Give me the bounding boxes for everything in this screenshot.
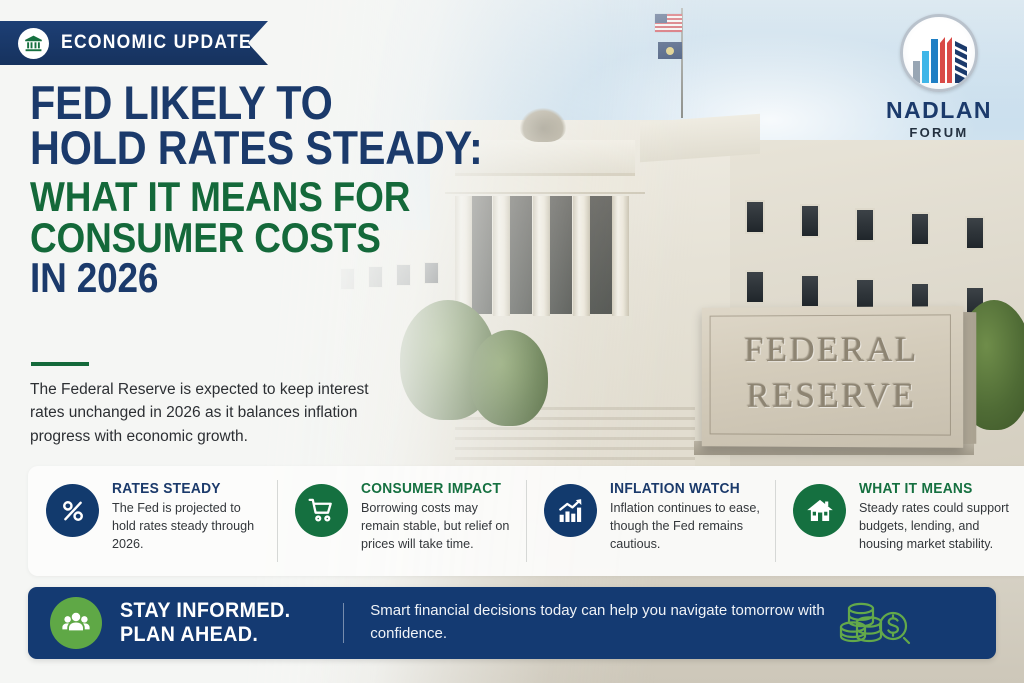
card-what-it-means: WHAT IT MEANS Steady rates could support… bbox=[775, 466, 1024, 576]
banner-headline: STAY INFORMED. PLAN AHEAD. bbox=[120, 599, 291, 646]
card-text: Borrowing costs may remain stable, but r… bbox=[361, 500, 512, 554]
headline-line-1: FED LIKELY TO bbox=[30, 80, 444, 125]
economic-update-ribbon: ECONOMIC UPDATE bbox=[0, 21, 268, 65]
call-to-action-banner: STAY INFORMED. PLAN AHEAD. Smart financi… bbox=[28, 587, 996, 659]
house-icon bbox=[793, 484, 846, 537]
banner-headline-line-1: STAY INFORMED. bbox=[120, 599, 291, 623]
headline-line-3: WHAT IT MEANS FOR bbox=[30, 177, 444, 217]
money-coins-icon bbox=[838, 598, 912, 648]
ribbon-label: ECONOMIC UPDATE bbox=[61, 32, 252, 54]
infographic-poster: FEDERAL RESERVE ECONOMIC UPDATE bbox=[0, 0, 1024, 683]
card-rates-steady: RATES STEADY The Fed is projected to hol… bbox=[28, 466, 277, 576]
people-group-icon bbox=[50, 597, 102, 649]
logo-subtitle: FORUM bbox=[876, 125, 1002, 140]
card-text: The Fed is projected to hold rates stead… bbox=[112, 500, 263, 554]
headline-block: FED LIKELY TO HOLD RATES STEADY: WHAT IT… bbox=[30, 80, 500, 298]
headline-line-4: CONSUMER COSTS bbox=[30, 218, 444, 258]
shopping-cart-icon bbox=[295, 484, 348, 537]
card-text: Inflation continues to ease, though the … bbox=[610, 500, 761, 554]
card-title: CONSUMER IMPACT bbox=[361, 481, 504, 497]
percent-icon bbox=[46, 484, 99, 537]
banner-headline-line-2: PLAN AHEAD. bbox=[120, 623, 291, 647]
nadlan-forum-logo: NADLAN FORUM bbox=[876, 14, 1002, 140]
bar-chart-arrow-icon bbox=[544, 484, 597, 537]
card-title: RATES STEADY bbox=[112, 481, 255, 497]
highlight-cards-panel: RATES STEADY The Fed is projected to hol… bbox=[28, 466, 1024, 576]
nadlan-chart-buildings-icon bbox=[900, 14, 978, 92]
card-title: INFLATION WATCH bbox=[610, 481, 753, 497]
card-text: Steady rates could support budgets, lend… bbox=[859, 500, 1010, 554]
banner-divider bbox=[343, 603, 344, 643]
bank-icon bbox=[18, 28, 49, 59]
headline-divider-rule bbox=[31, 362, 89, 366]
logo-name: NADLAN bbox=[876, 97, 1002, 124]
card-title: WHAT IT MEANS bbox=[859, 481, 1002, 497]
card-inflation-watch: INFLATION WATCH Inflation continues to e… bbox=[526, 466, 775, 576]
subtext: The Federal Reserve is expected to keep … bbox=[30, 378, 390, 448]
headline-line-2: HOLD RATES STEADY: bbox=[30, 125, 444, 170]
card-consumer-impact: CONSUMER IMPACT Borrowing costs may rema… bbox=[277, 466, 526, 576]
banner-text: Smart financial decisions today can help… bbox=[370, 600, 838, 646]
headline-line-5: IN 2026 bbox=[30, 258, 444, 298]
